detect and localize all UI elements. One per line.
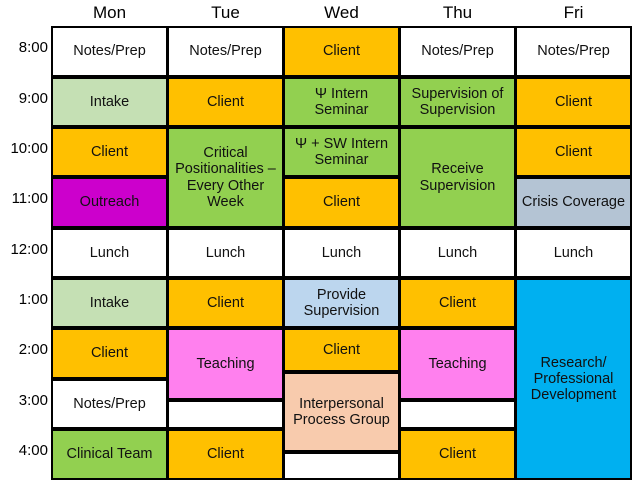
cell-text: Client <box>54 144 165 160</box>
column-header-fri: Fri <box>515 2 632 24</box>
cell-tue-1200[interactable]: Lunch <box>167 228 284 278</box>
cell-wed-1000-psi-sw-intern-seminar[interactable]: Ψ + SW Intern Seminar <box>283 127 400 177</box>
time-label-1100: 11:00 <box>0 189 48 209</box>
cell-fri-1100-crisis-coverage[interactable]: Crisis Coverage <box>515 177 632 228</box>
column-header-mon: Mon <box>51 2 168 24</box>
time-label-0300: 3:00 <box>0 391 48 411</box>
time-label-0400: 4:00 <box>0 441 48 461</box>
time-label-0100: 1:00 <box>0 290 48 310</box>
cell-fri-0800[interactable]: Notes/Prep <box>515 26 632 77</box>
cell-mon-0100[interactable]: Intake <box>51 278 168 328</box>
cell-text: Interpersonal Process Group <box>286 396 397 428</box>
cell-wed-0100-provide-supervision[interactable]: Provide Supervision <box>283 278 400 328</box>
cell-text: Lunch <box>170 245 281 261</box>
cell-text: Client <box>170 446 281 462</box>
cell-text: Ψ + SW Intern Seminar <box>286 136 397 168</box>
cell-text: Client <box>54 345 165 361</box>
cell-tue-0900[interactable]: Client <box>167 77 284 127</box>
cell-thu-0200-teaching[interactable]: Teaching <box>399 328 516 400</box>
cell-mon-1100[interactable]: Outreach <box>51 177 168 228</box>
cell-text: Notes/Prep <box>402 43 513 59</box>
cell-wed-0400-empty[interactable] <box>283 452 400 480</box>
cell-tue-1000-critical-positionalities[interactable]: Critical Positionalities – Every Other W… <box>167 127 284 228</box>
cell-text: Critical Positionalities – Every Other W… <box>170 145 281 210</box>
cell-thu-0300-empty[interactable] <box>399 400 516 429</box>
time-label-0800: 8:00 <box>0 38 48 58</box>
cell-text: Client <box>402 446 513 462</box>
cell-text: Supervision of Supervision <box>402 86 513 118</box>
cell-text: Outreach <box>54 194 165 210</box>
column-header-wed: Wed <box>283 2 400 24</box>
cell-text: Receive Supervision <box>402 161 513 193</box>
cell-mon-0200[interactable]: Client <box>51 328 168 379</box>
cell-text: Clinical Team <box>54 446 165 462</box>
cell-text: Teaching <box>170 356 281 372</box>
cell-text: Client <box>170 295 281 311</box>
cell-fri-1200[interactable]: Lunch <box>515 228 632 278</box>
cell-text: Client <box>286 43 397 59</box>
cell-tue-0100[interactable]: Client <box>167 278 284 328</box>
cell-mon-0900[interactable]: Intake <box>51 77 168 127</box>
time-label-0900: 9:00 <box>0 89 48 109</box>
cell-text: Notes/Prep <box>518 43 629 59</box>
cell-thu-0100[interactable]: Client <box>399 278 516 328</box>
cell-text: Client <box>402 295 513 311</box>
cell-text: Intake <box>54 295 165 311</box>
cell-thu-1200[interactable]: Lunch <box>399 228 516 278</box>
cell-text: Provide Supervision <box>286 287 397 319</box>
cell-text: Ψ Intern Seminar <box>286 86 397 118</box>
cell-text: Lunch <box>286 245 397 261</box>
cell-text: Notes/Prep <box>170 43 281 59</box>
weekly-schedule-grid: Mon Tue Wed Thu Fri 8:00 9:00 10:00 11:0… <box>0 0 633 481</box>
time-label-1200: 12:00 <box>0 240 48 260</box>
cell-tue-0800[interactable]: Notes/Prep <box>167 26 284 77</box>
cell-thu-0400[interactable]: Client <box>399 429 516 480</box>
cell-mon-0400[interactable]: Clinical Team <box>51 429 168 480</box>
cell-thu-0800[interactable]: Notes/Prep <box>399 26 516 77</box>
cell-fri-0100-research-professional-development[interactable]: Research/ Professional Development <box>515 278 632 480</box>
time-label-1000: 10:00 <box>0 139 48 159</box>
cell-tue-0200-teaching[interactable]: Teaching <box>167 328 284 400</box>
cell-wed-1100[interactable]: Client <box>283 177 400 228</box>
cell-text: Notes/Prep <box>54 396 165 412</box>
column-header-tue: Tue <box>167 2 284 24</box>
cell-text: Client <box>286 342 397 358</box>
cell-text: Intake <box>54 94 165 110</box>
cell-fri-0900[interactable]: Client <box>515 77 632 127</box>
cell-text: Lunch <box>402 245 513 261</box>
cell-text: Client <box>518 94 629 110</box>
cell-mon-0800[interactable]: Notes/Prep <box>51 26 168 77</box>
cell-text: Lunch <box>54 245 165 261</box>
cell-wed-1200[interactable]: Lunch <box>283 228 400 278</box>
cell-text: Research/ Professional Development <box>518 355 629 404</box>
cell-text: Lunch <box>518 245 629 261</box>
cell-text: Client <box>286 194 397 210</box>
cell-text: Client <box>518 144 629 160</box>
column-header-thu: Thu <box>399 2 516 24</box>
cell-text: Notes/Prep <box>54 43 165 59</box>
cell-mon-1200[interactable]: Lunch <box>51 228 168 278</box>
cell-text: Crisis Coverage <box>518 194 629 210</box>
cell-fri-1000[interactable]: Client <box>515 127 632 177</box>
cell-wed-0300-interpersonal-process-group[interactable]: Interpersonal Process Group <box>283 372 400 452</box>
cell-mon-0300[interactable]: Notes/Prep <box>51 379 168 429</box>
cell-mon-1000[interactable]: Client <box>51 127 168 177</box>
cell-text: Client <box>170 94 281 110</box>
cell-thu-0900-supervision-of-supervision[interactable]: Supervision of Supervision <box>399 77 516 127</box>
cell-tue-0400[interactable]: Client <box>167 429 284 480</box>
cell-wed-0800[interactable]: Client <box>283 26 400 77</box>
cell-text: Teaching <box>402 356 513 372</box>
cell-wed-0900-psi-intern-seminar[interactable]: Ψ Intern Seminar <box>283 77 400 127</box>
time-label-0200: 2:00 <box>0 340 48 360</box>
cell-wed-0200[interactable]: Client <box>283 328 400 372</box>
cell-thu-1000-receive-supervision[interactable]: Receive Supervision <box>399 127 516 228</box>
cell-tue-0300-empty[interactable] <box>167 400 284 429</box>
